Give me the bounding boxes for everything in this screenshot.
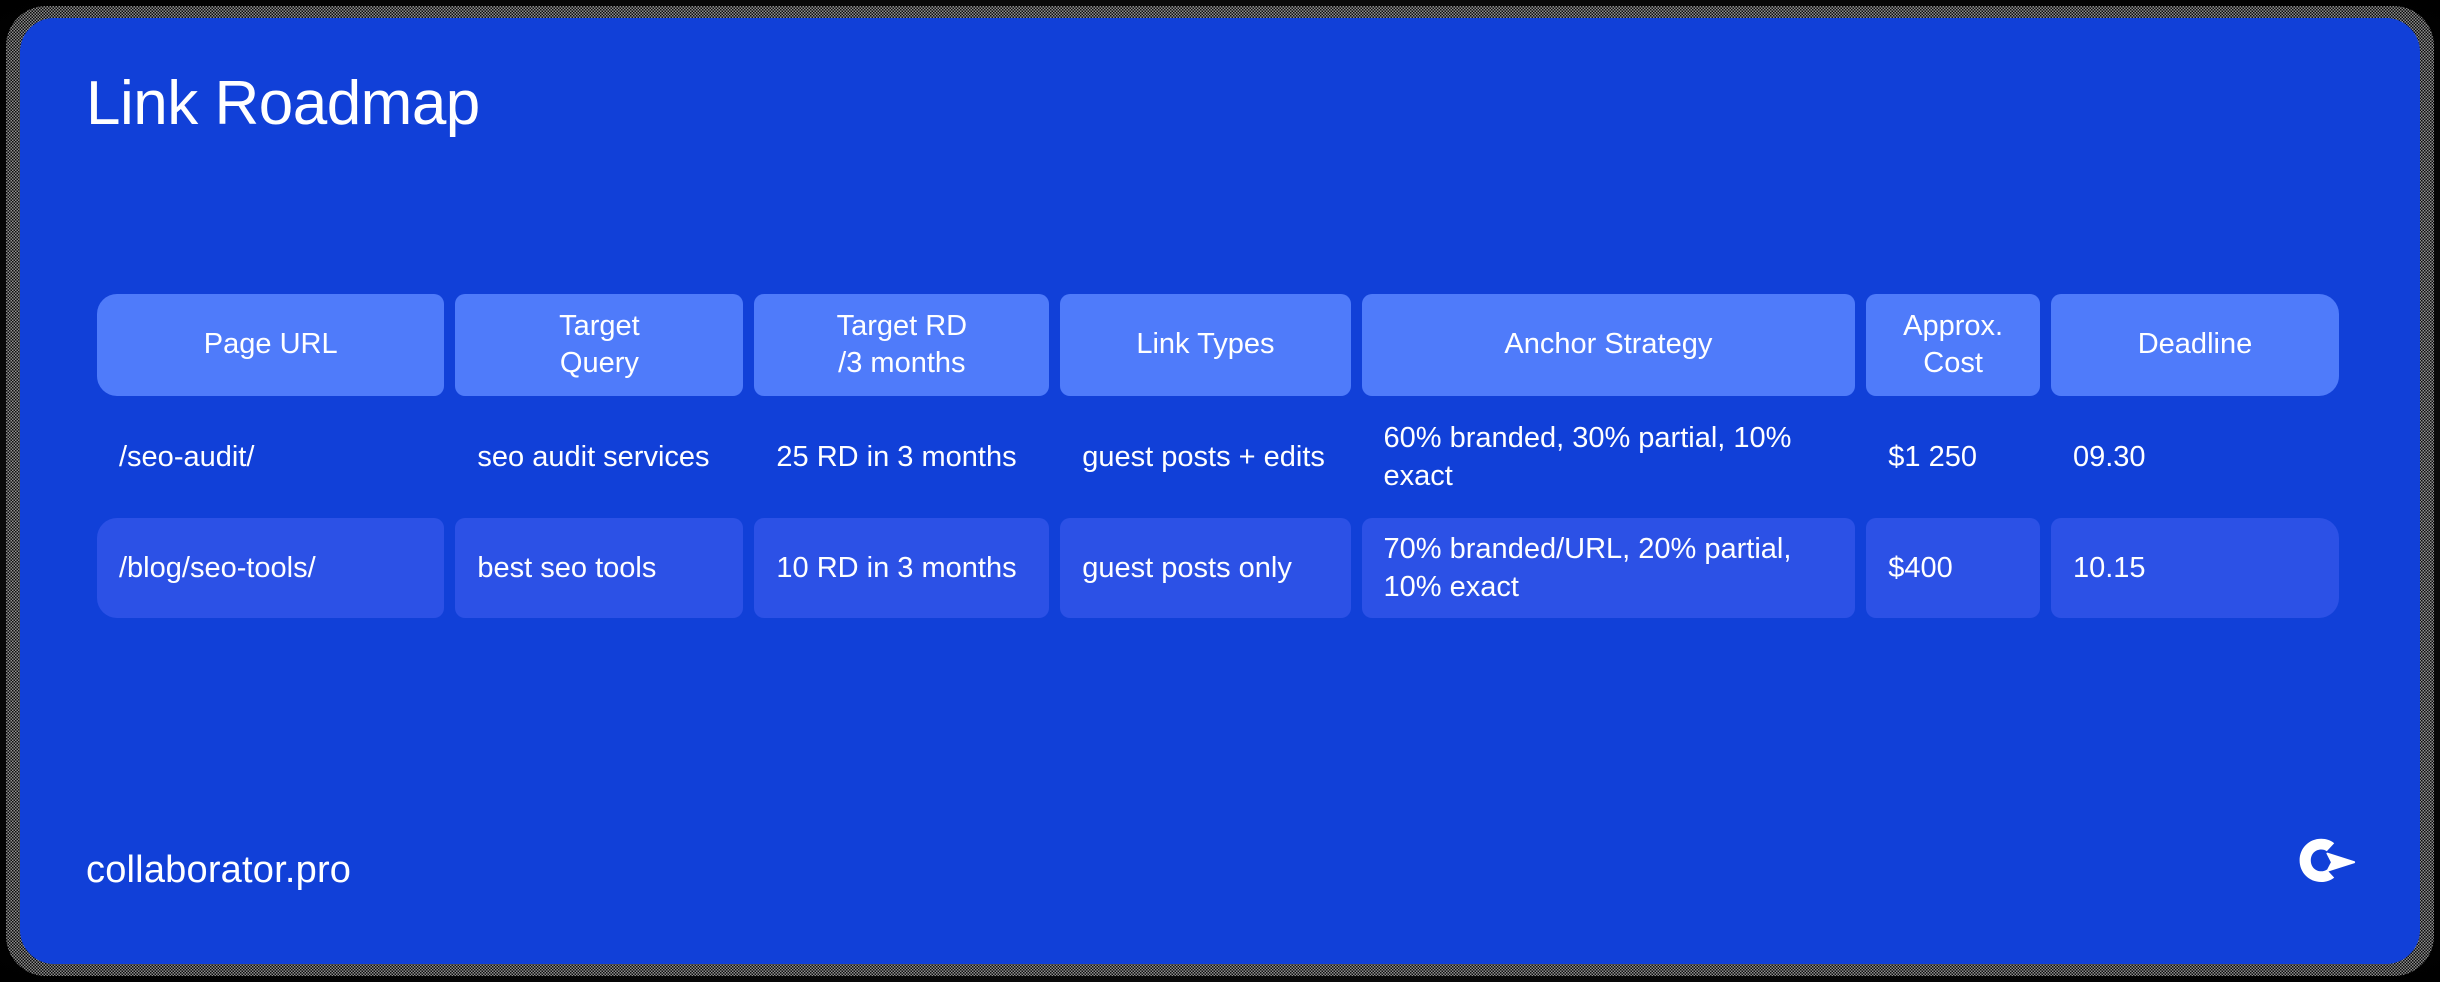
table-header: Page URL Target Query Target RD /3 month… xyxy=(97,294,2339,396)
column-header-target-query[interactable]: Target Query xyxy=(455,294,743,396)
table-body: /seo-audit/ seo audit services 25 RD in … xyxy=(97,407,2339,618)
cell-approx-cost: $400 xyxy=(1866,518,2040,618)
screenshot-stage: Link Roadmap Page URL Target Query Targe… xyxy=(0,0,2440,982)
cell-link-types: guest posts + edits xyxy=(1060,407,1350,507)
cell-link-types: guest posts only xyxy=(1060,518,1350,618)
table-row: /seo-audit/ seo audit services 25 RD in … xyxy=(97,407,2339,507)
table-header-row: Page URL Target Query Target RD /3 month… xyxy=(97,294,2339,396)
column-header-deadline[interactable]: Deadline xyxy=(2051,294,2339,396)
cell-deadline: 09.30 xyxy=(2051,407,2339,507)
cell-deadline: 10.15 xyxy=(2051,518,2339,618)
column-header-page-url[interactable]: Page URL xyxy=(97,294,444,396)
cell-anchor-strategy: 70% branded/URL, 20% partial, 10% exact xyxy=(1362,518,1856,618)
column-header-link-types[interactable]: Link Types xyxy=(1060,294,1350,396)
link-roadmap-table: Page URL Target Query Target RD /3 month… xyxy=(86,283,2350,629)
cell-page-url: /blog/seo-tools/ xyxy=(97,518,444,618)
column-header-anchor-strategy[interactable]: Anchor Strategy xyxy=(1362,294,1856,396)
footer-brand-text: collaborator.pro xyxy=(86,849,351,892)
cell-anchor-strategy: 60% branded, 30% partial, 10% exact xyxy=(1362,407,1856,507)
cell-approx-cost: $1 250 xyxy=(1866,407,2040,507)
cell-target-rd: 10 RD in 3 months xyxy=(754,518,1049,618)
collaborator-logo-icon xyxy=(2296,838,2358,888)
cell-target-rd: 25 RD in 3 months xyxy=(754,407,1049,507)
table-row: /blog/seo-tools/ best seo tools 10 RD in… xyxy=(97,518,2339,618)
roadmap-card: Link Roadmap Page URL Target Query Targe… xyxy=(20,18,2420,964)
column-header-approx-cost[interactable]: Approx. Cost xyxy=(1866,294,2040,396)
cell-page-url: /seo-audit/ xyxy=(97,407,444,507)
page-title: Link Roadmap xyxy=(86,70,480,138)
column-header-target-rd[interactable]: Target RD /3 months xyxy=(754,294,1049,396)
cell-target-query: seo audit services xyxy=(455,407,743,507)
cell-target-query: best seo tools xyxy=(455,518,743,618)
